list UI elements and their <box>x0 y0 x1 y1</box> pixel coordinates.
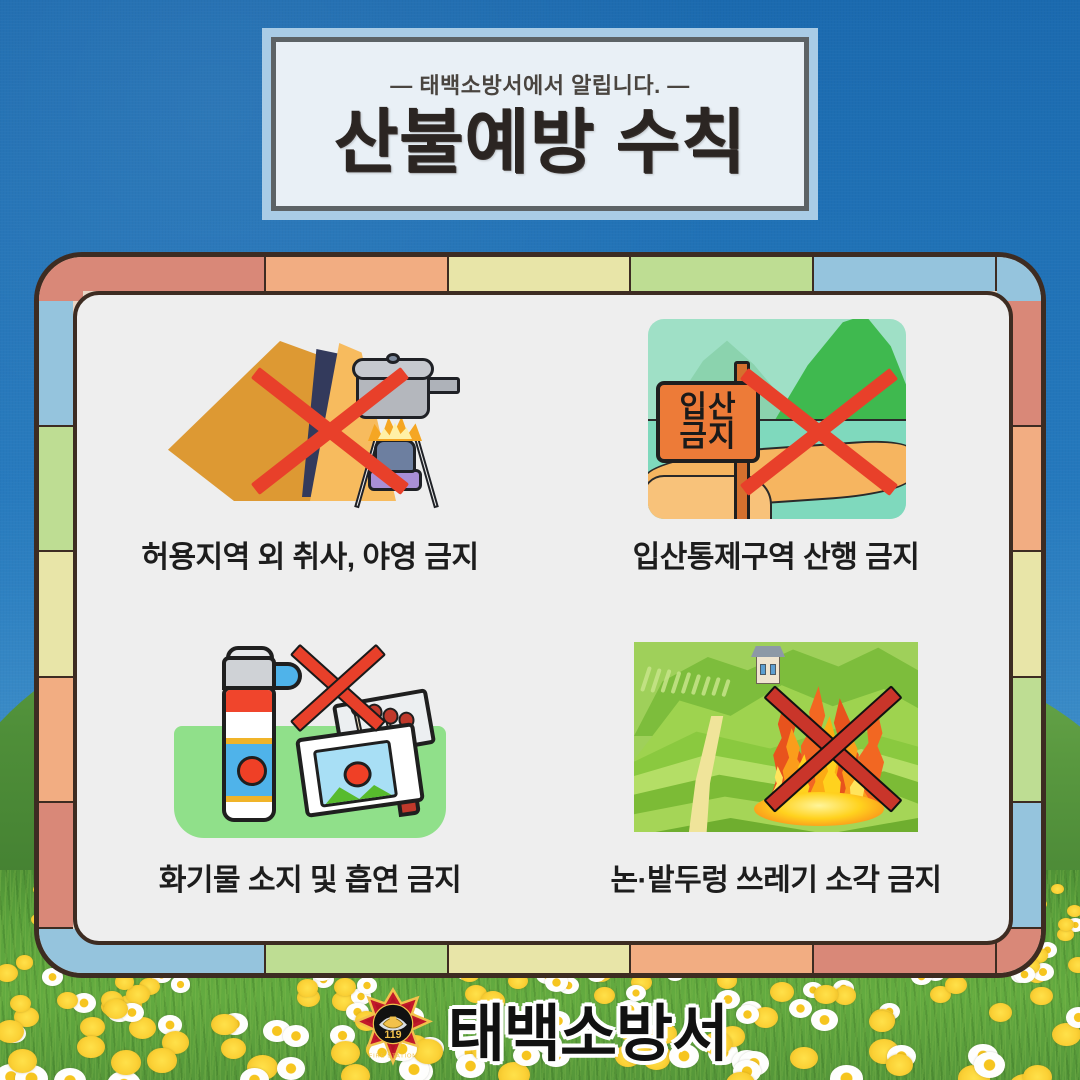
rule-item-camping: 허용지역 외 취사, 야영 금지 <box>77 295 543 618</box>
rule-item-restricted-area: 입산금지 입산통제구역 산행 금지 <box>543 295 1009 618</box>
poster-subtitle: — 태백소방서에서 알립니다. — <box>390 68 690 100</box>
farmhouse-window <box>760 664 766 675</box>
sign-text: 입산금지 <box>679 393 736 452</box>
farmhouse-roof <box>751 646 785 657</box>
frame-segment-top <box>266 257 449 291</box>
lighter-sun-graphic <box>237 756 267 786</box>
poster-footer: 119 FIRE STATION 태백소방서 <box>0 980 1080 1076</box>
illustration-no-entry-sign: 입산금지 <box>626 311 926 526</box>
lighter-top <box>222 656 276 690</box>
rule-caption-camping: 허용지역 외 취사, 야영 금지 <box>141 532 478 576</box>
prohibition-x-icon <box>260 371 400 491</box>
prohibition-x-icon <box>768 694 898 804</box>
title-plaque-inner: — 태백소방서에서 알립니다. — 산불예방 수칙 <box>271 37 809 211</box>
footer-organization-name: 태백소방서 <box>448 983 728 1073</box>
frame-segment-top <box>631 257 814 291</box>
rule-item-field-burning: 논·밭두렁 쓰레기 소각 금지 <box>543 618 1009 941</box>
frame-segment-left <box>39 803 73 929</box>
prohibition-x-icon <box>290 648 386 728</box>
lighter-red-band <box>226 690 272 712</box>
prohibition-x-icon <box>744 373 894 491</box>
dandelion-flower <box>1067 905 1080 917</box>
farmhouse-window <box>770 664 776 675</box>
frame-segment-left <box>39 678 73 804</box>
svg-text:119: 119 <box>384 1029 401 1041</box>
title-plaque: — 태백소방서에서 알립니다. — 산불예방 수칙 <box>262 28 818 220</box>
frame-segment-top <box>83 257 266 291</box>
poster-root: — 태백소방서에서 알립니다. — 산불예방 수칙 <box>0 0 1080 1080</box>
frame-segment-left <box>39 301 73 427</box>
matchbox-label <box>313 740 398 808</box>
frame-segment-left <box>39 552 73 678</box>
rule-caption-field-burning: 논·밭두렁 쓰레기 소각 금지 <box>610 855 941 899</box>
content-card-frame: 허용지역 외 취사, 야영 금지 입산금지 <box>34 252 1046 978</box>
rule-caption-fire-tools: 화기물 소지 및 흡연 금지 <box>159 855 461 899</box>
frame-segment-top <box>814 257 997 291</box>
pot-lid-knob <box>386 353 400 364</box>
matchbox-tray <box>295 722 425 818</box>
rules-grid: 허용지역 외 취사, 야영 금지 입산금지 <box>77 295 1009 941</box>
fire-station-badge-icon: 119 FIRE STATION <box>352 987 434 1069</box>
svg-text:FIRE STATION: FIRE STATION <box>369 1054 418 1060</box>
dandelion-flower <box>16 955 34 969</box>
illustration-tent-stove <box>160 311 460 526</box>
lighter-gold-line <box>226 796 272 802</box>
matchbox-sun <box>342 760 373 790</box>
frame-segment-left <box>39 427 73 553</box>
illustration-lighter-matches <box>160 634 460 849</box>
lighter-body <box>222 686 276 822</box>
lighter-white-band <box>226 712 272 738</box>
frame-segment-top <box>449 257 632 291</box>
rule-caption-restricted-area: 입산통제구역 산행 금지 <box>633 532 920 576</box>
rule-item-fire-tools: 화기물 소지 및 흡연 금지 <box>77 618 543 941</box>
poster-title: 산불예방 수칙 <box>334 106 747 180</box>
illustration-burning-field <box>626 634 926 849</box>
content-card: 허용지역 외 취사, 야영 금지 입산금지 <box>73 291 1013 945</box>
